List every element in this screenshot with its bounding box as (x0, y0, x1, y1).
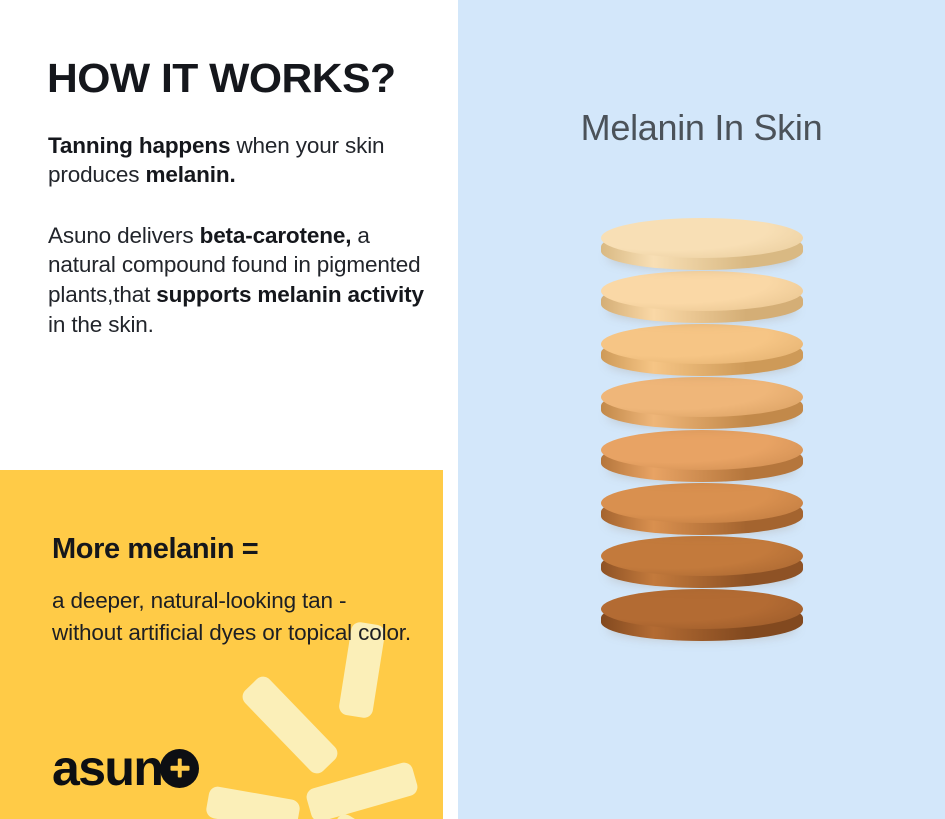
sunburst-ray-icon (239, 673, 341, 777)
plus-in-circle-icon (160, 749, 199, 788)
disc-top-face (601, 218, 803, 258)
melanin-disc-layer-8 (601, 589, 803, 641)
disc-top-face (601, 536, 803, 576)
callout-heading: More melanin = (52, 534, 422, 566)
paragraph-betacarotene: Asuno delivers beta-carotene, a natural … (48, 221, 433, 341)
page-title: HOW IT WORKS? (47, 57, 453, 100)
illustration-title: Melanin In Skin (458, 107, 945, 149)
paragraph-betacarotene-bold-2: supports melanin activity (156, 282, 424, 307)
disc-top-face (601, 271, 803, 311)
left-column: HOW IT WORKS? Tanning happens when your … (0, 0, 443, 819)
melanin-disc-layer-1 (601, 218, 803, 270)
paragraph-betacarotene-text-3: in the skin. (48, 312, 154, 337)
disc-top-face (601, 377, 803, 417)
brand-wordmark: asun (52, 743, 162, 793)
melanin-disc-layer-2 (601, 271, 803, 323)
disc-top-face (601, 589, 803, 629)
melanin-disc-layer-4 (601, 377, 803, 429)
sunburst-ray-icon (297, 811, 370, 819)
melanin-disc-layer-3 (601, 324, 803, 376)
paragraph-tanning-bold-1: Tanning happens (48, 133, 230, 158)
sunburst-ray-icon (304, 760, 419, 819)
callout-body-text: a deeper, natural-looking tan - without … (52, 585, 417, 649)
melanin-disc-layer-6 (601, 483, 803, 535)
paragraph-betacarotene-text-1: Asuno delivers (48, 223, 200, 248)
paragraph-tanning: Tanning happens when your skin produces … (48, 131, 433, 191)
yellow-callout-panel: More melanin = a deeper, natural-looking… (0, 470, 443, 819)
melanin-disc-stack (458, 218, 945, 638)
paragraph-betacarotene-bold-1: beta-carotene, (200, 223, 352, 248)
melanin-disc-layer-7 (601, 536, 803, 588)
disc-top-face (601, 483, 803, 523)
sunburst-ray-icon (205, 785, 301, 819)
disc-top-face (601, 430, 803, 470)
paragraph-tanning-bold-2: melanin. (145, 162, 235, 187)
right-illustration-panel: Melanin In Skin (458, 0, 945, 819)
infographic-canvas: HOW IT WORKS? Tanning happens when your … (0, 0, 945, 819)
disc-top-face (601, 324, 803, 364)
melanin-disc-layer-5 (601, 430, 803, 482)
brand-logo: asun (52, 743, 199, 793)
